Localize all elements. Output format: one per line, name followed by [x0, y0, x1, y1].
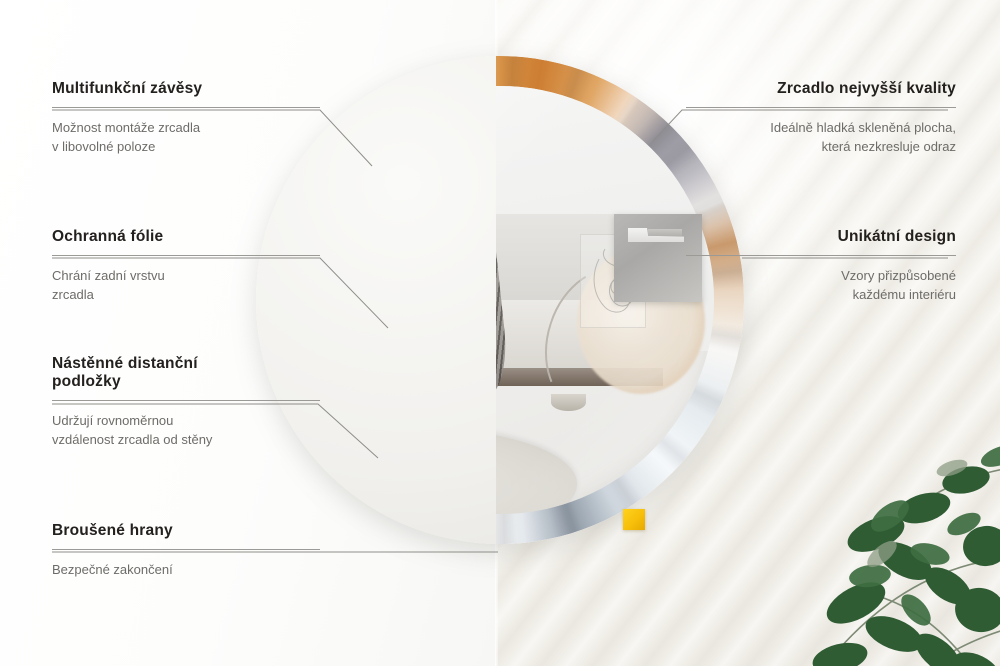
callout-rule: [686, 255, 956, 256]
callout-description: Ideálně hladká skleněná plocha, která ne…: [686, 118, 956, 156]
callout-description-line: Vzory přizpůsobené: [686, 266, 956, 285]
callout-title-line2: podložky: [52, 373, 320, 391]
callout-brousene-hrany: Broušené hrany Bezpečné zakončení: [52, 522, 320, 579]
callout-unikatni-design: Unikátní design Vzory přizpůsobené každé…: [686, 228, 956, 304]
callout-zrcadlo-nejvyssi-kvality: Zrcadlo nejvyšší kvality Ideálně hladká …: [686, 80, 956, 156]
callout-rule: [52, 400, 320, 401]
callout-title: Nástěnné distanční: [52, 355, 320, 373]
callout-title: Multifunkční závěsy: [52, 80, 320, 98]
callout-description-line: která nezkresluje odraz: [686, 137, 956, 156]
callout-description-line: Udržují rovnoměrnou: [52, 411, 320, 430]
callout-description: Možnost montáže zrcadla v libovolné polo…: [52, 118, 320, 156]
callout-description: Udržují rovnoměrnou vzdálenost zrcadla o…: [52, 411, 320, 449]
callout-description: Chrání zadní vrstvu zrcadla: [52, 266, 320, 304]
callout-rule: [52, 107, 320, 108]
callout-nastenne-distancni-podlozky: Nástěnné distanční podložky Udržují rovn…: [52, 355, 320, 449]
callout-description-line: Ideálně hladká skleněná plocha,: [686, 118, 956, 137]
feature-infographic: Multifunkční závěsy Možnost montáže zrca…: [0, 0, 1000, 666]
callout-rule: [52, 255, 320, 256]
callout-description: Bezpečné zakončení: [52, 560, 320, 579]
callout-description-line: Bezpečné zakončení: [52, 560, 320, 579]
callout-ochranna-folie: Ochranná fólie Chrání zadní vrstvu zrcad…: [52, 228, 320, 304]
callout-description-line: v libovolné poloze: [52, 137, 320, 156]
green-leaf-branches: [680, 348, 1000, 666]
callout-description-line: Možnost montáže zrcadla: [52, 118, 320, 137]
callout-title: Broušené hrany: [52, 522, 320, 540]
callout-description-line: vzdálenost zrcadla od stěny: [52, 430, 320, 449]
callout-description-line: každému interiéru: [686, 285, 956, 304]
callout-rule: [686, 107, 956, 108]
callout-description-line: Chrání zadní vrstvu: [52, 266, 320, 285]
callout-title: Ochranná fólie: [52, 228, 320, 246]
callout-title: Unikátní design: [686, 228, 956, 246]
callout-title: Zrcadlo nejvyšší kvality: [686, 80, 956, 98]
callout-description: Vzory přizpůsobené každému interiéru: [686, 266, 956, 304]
callout-rule: [52, 549, 320, 550]
callout-multifunkcni-zavesy: Multifunkční závěsy Možnost montáže zrca…: [52, 80, 320, 156]
callout-description-line: zrcadla: [52, 285, 320, 304]
